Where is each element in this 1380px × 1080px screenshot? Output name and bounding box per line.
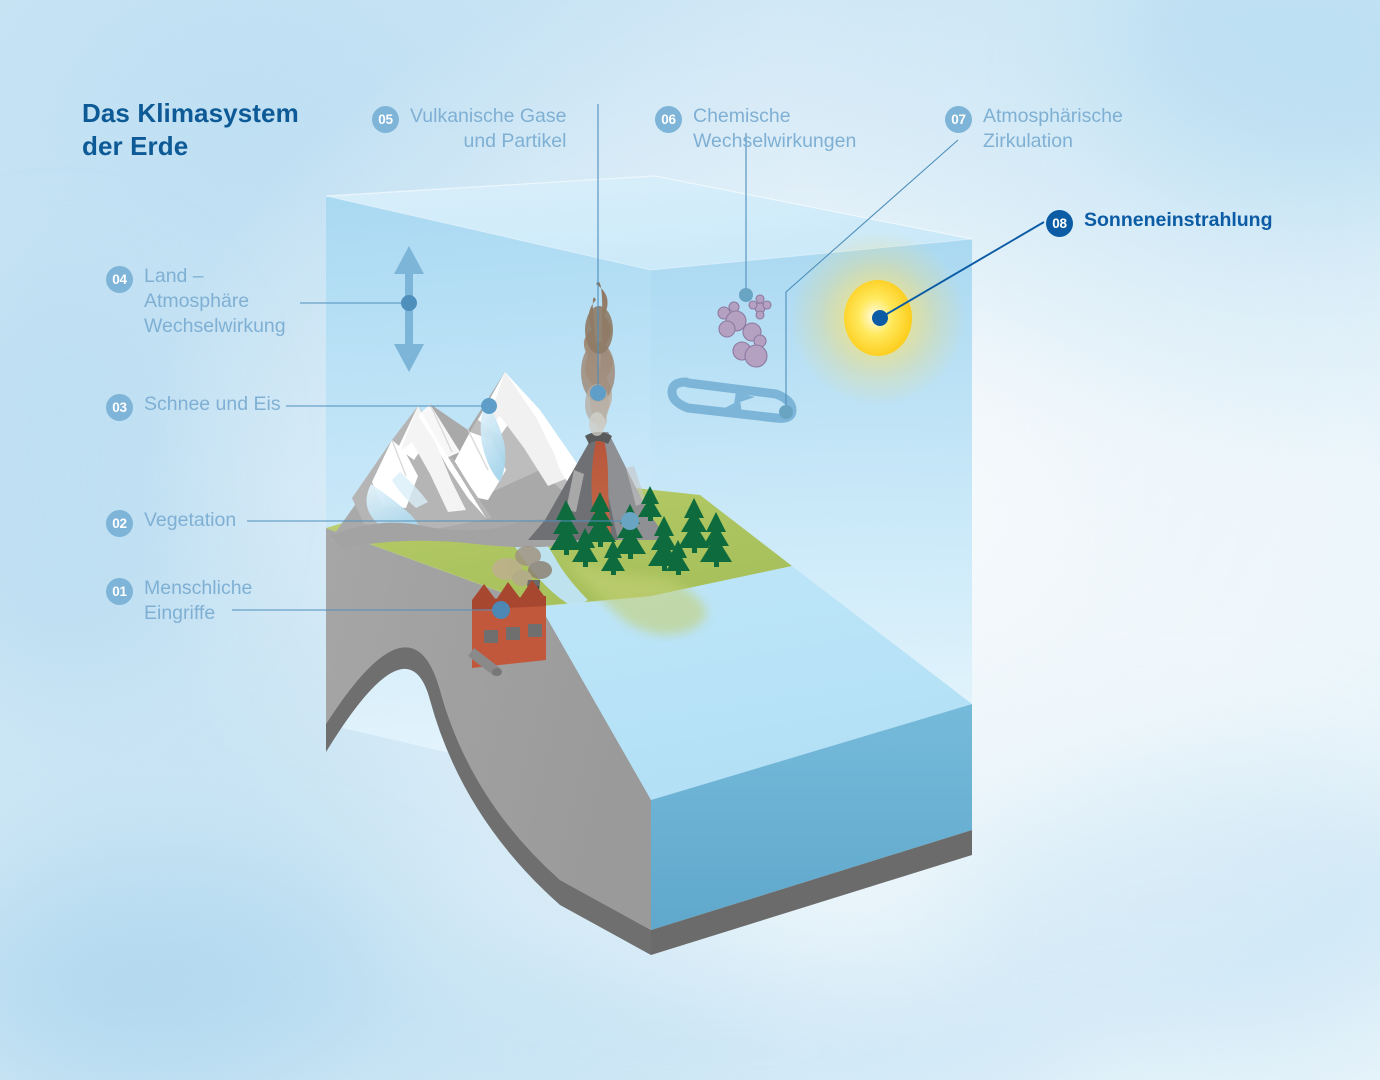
badge-06: 06 [655,106,682,133]
label-chemische-wechselwirkungen[interactable]: 06 Chemische Wechselwirkungen [655,104,856,154]
dot-05 [590,385,606,401]
badge-05: 05 [372,106,399,133]
dot-03 [481,398,497,414]
page-title: Das Klimasystem der Erde [82,97,299,163]
label-vulkanische-gase-und-partikel[interactable]: 05 Vulkanische Gase und Partikel [372,104,566,154]
label-vegetation[interactable]: 02 Vegetation [106,508,236,537]
label-text-02: Vegetation [144,508,236,533]
badge-02: 02 [106,510,133,537]
badge-07: 07 [945,106,972,133]
dot-07 [779,405,793,419]
badge-01: 01 [106,578,133,605]
badge-03: 03 [106,394,133,421]
label-schnee-und-eis[interactable]: 03 Schnee und Eis [106,392,281,421]
dot-08 [872,310,888,326]
label-text-08: Sonneneinstrahlung [1084,208,1273,233]
label-text-01: Menschliche Eingriffe [144,576,252,626]
dot-01 [492,601,510,619]
badge-08: 08 [1046,210,1073,237]
label-land-atmosphaere-wechselwirkung[interactable]: 04 Land – Atmosphäre Wechselwirkung [106,264,286,339]
label-sonneneinstrahlung[interactable]: 08 Sonneneinstrahlung [1046,208,1273,237]
infographic-canvas: Das Klimasystem der Erde 01 Menschliche … [0,0,1380,1080]
label-text-05: Vulkanische Gase und Partikel [410,104,566,154]
label-text-06: Chemische Wechselwirkungen [693,104,856,154]
label-text-03: Schnee und Eis [144,392,281,417]
label-menschliche-eingriffe[interactable]: 01 Menschliche Eingriffe [106,576,252,626]
dot-04 [401,295,417,311]
label-atmosphaerische-zirkulation[interactable]: 07 Atmosphärische Zirkulation [945,104,1123,154]
label-text-04: Land – Atmosphäre Wechselwirkung [144,264,286,339]
label-text-07: Atmosphärische Zirkulation [983,104,1123,154]
badge-04: 04 [106,266,133,293]
dot-06 [739,288,753,302]
dot-02 [621,512,639,530]
